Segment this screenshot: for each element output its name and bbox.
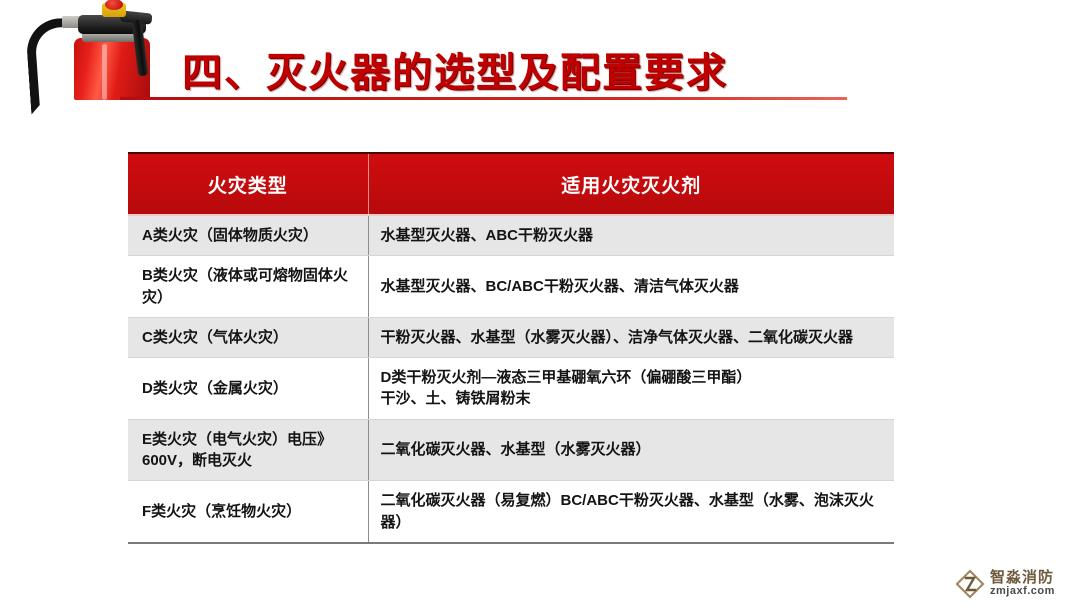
agent-line: 水基型灭火器、BC/ABC干粉灭火器、清洁气体灭火器: [381, 276, 883, 297]
table-row: B类火灾（液体或可熔物固体火灾）水基型灭火器、BC/ABC干粉灭火器、清洁气体灭…: [128, 256, 894, 318]
slide-header: 四、灭火器的选型及配置要求: [0, 0, 1080, 112]
cell-fire-type: B类火灾（液体或可熔物固体火灾）: [128, 256, 368, 318]
table-row: D类火灾（金属火灾）D类干粉灭火剂—液态三甲基硼氧六环（偏硼酸三甲酯）干沙、土、…: [128, 358, 894, 420]
table-body: A类火灾（固体物质火灾）水基型灭火器、ABC干粉灭火器B类火灾（液体或可熔物固体…: [128, 215, 894, 543]
page-title: 四、灭火器的选型及配置要求: [182, 40, 728, 98]
cell-agent: 二氧化碳灭火器（易复燃）BC/ABC干粉灭火器、水基型（水雾、泡沫灭火器）: [368, 481, 894, 543]
table-header: 火灾类型 适用火灾灭火剂: [128, 153, 894, 215]
watermark: 智淼消防 zmjaxf.com: [955, 564, 1077, 604]
agent-line: 干沙、土、铸铁屑粉末: [381, 388, 883, 409]
fire-extinguisher-image: [16, 0, 182, 100]
table-row: A类火灾（固体物质火灾）水基型灭火器、ABC干粉灭火器: [128, 215, 894, 256]
cell-fire-type: A类火灾（固体物质火灾）: [128, 215, 368, 256]
agent-line: 水基型灭火器、ABC干粉灭火器: [381, 225, 883, 246]
agent-line: 二氧化碳灭火器（易复燃）BC/ABC干粉灭火器、水基型（水雾、泡沫灭火器）: [381, 490, 883, 533]
cell-agent: 干粉灭火器、水基型（水雾灭火器）、洁净气体灭火器、二氧化碳灭火器: [368, 317, 894, 357]
column-header-fire-type: 火灾类型: [128, 153, 368, 215]
cell-agent: 水基型灭火器、ABC干粉灭火器: [368, 215, 894, 256]
agent-line: 二氧化碳灭火器、水基型（水雾灭火器）: [381, 439, 883, 460]
table-row: C类火灾（气体火灾）干粉灭火器、水基型（水雾灭火器）、洁净气体灭火器、二氧化碳灭…: [128, 317, 894, 357]
agent-line: 干粉灭火器、水基型（水雾灭火器）、洁净气体灭火器、二氧化碳灭火器: [381, 327, 883, 348]
cell-fire-type: F类火灾（烹饪物火灾）: [128, 481, 368, 543]
fire-class-agent-table: 火灾类型 适用火灾灭火剂 A类火灾（固体物质火灾）水基型灭火器、ABC干粉灭火器…: [128, 152, 894, 544]
cell-fire-type: E类火灾（电气火灾）电压》600V，断电灭火: [128, 419, 368, 481]
table-row: E类火灾（电气火灾）电压》600V，断电灭火二氧化碳灭火器、水基型（水雾灭火器）: [128, 419, 894, 481]
column-header-agent: 适用火灾灭火剂: [368, 153, 894, 215]
table-header-row: 火灾类型 适用火灾灭火剂: [128, 153, 894, 215]
diamond-z-logo-icon: [955, 569, 985, 599]
cell-agent: 水基型灭火器、BC/ABC干粉灭火器、清洁气体灭火器: [368, 256, 894, 318]
watermark-url: zmjaxf.com: [990, 586, 1055, 598]
watermark-text: 智淼消防 zmjaxf.com: [990, 570, 1055, 597]
cell-agent: 二氧化碳灭火器、水基型（水雾灭火器）: [368, 419, 894, 481]
watermark-brand-name: 智淼消防: [990, 570, 1055, 586]
agent-line: D类干粉灭火剂—液态三甲基硼氧六环（偏硼酸三甲酯）: [381, 367, 883, 388]
cell-fire-type: C类火灾（气体火灾）: [128, 317, 368, 357]
title-underline: [120, 97, 847, 100]
cell-agent: D类干粉灭火剂—液态三甲基硼氧六环（偏硼酸三甲酯）干沙、土、铸铁屑粉末: [368, 358, 894, 420]
table-row: F类火灾（烹饪物火灾）二氧化碳灭火器（易复燃）BC/ABC干粉灭火器、水基型（水…: [128, 481, 894, 543]
cell-fire-type: D类火灾（金属火灾）: [128, 358, 368, 420]
